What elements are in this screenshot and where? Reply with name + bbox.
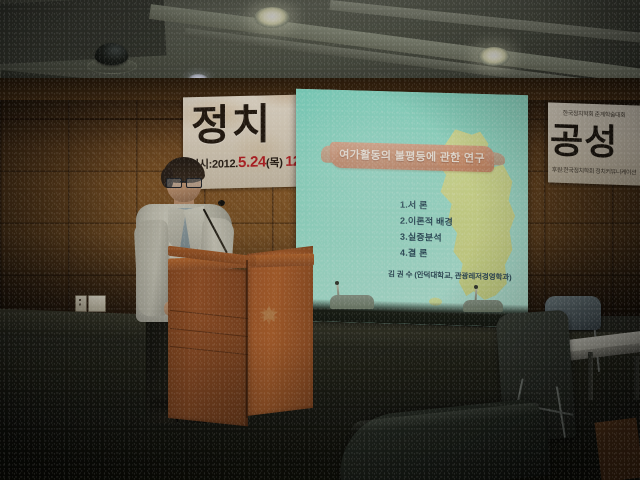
stage-chair-left — [330, 295, 374, 309]
table-leg — [588, 352, 593, 400]
banner-right: 한국정치학회 춘계학술대회 공성 후원:한국정치학회 정치커뮤니케이션 — [548, 102, 640, 185]
podium-side-panel — [247, 246, 313, 416]
downlight-icon — [254, 7, 290, 28]
slide-grain — [296, 89, 528, 327]
glasses-lens-left — [166, 178, 182, 188]
wall-switch-plate — [88, 295, 106, 312]
outlet-socket-holes — [77, 298, 83, 307]
date-day: (목) — [266, 157, 283, 169]
podium-front-panel — [168, 262, 248, 426]
banner-right-top-line: 한국정치학회 춘계학술대회 — [550, 107, 638, 119]
security-camera-icon — [95, 43, 128, 65]
downlight-icon — [478, 47, 510, 66]
table-mic-head-icon — [474, 285, 478, 289]
glasses-icon — [166, 178, 202, 186]
podium-corner-edge — [246, 260, 248, 418]
banner-left-title: 정치 — [191, 101, 272, 149]
glasses-lens-right — [186, 178, 202, 188]
banner-right-sub-line: 후원:한국정치학회 정치커뮤니케이션 — [550, 164, 638, 176]
stage-chair-right — [463, 300, 503, 312]
star-emblem-icon — [258, 304, 280, 326]
podium — [168, 246, 313, 418]
conference-room-photo: 정치 일시:2012.5.24(목) 12:50 한국정치학회 춘계학술대회 공… — [0, 0, 640, 480]
ceiling-left-panel — [0, 0, 166, 65]
microphone-head-icon — [218, 200, 225, 206]
table-leg — [634, 356, 639, 400]
projection-screen: 여가활동의 불평등에 관한 연구 1.서 론 2.이론적 배경 3.실증분석 4… — [296, 89, 528, 327]
table-mic-head-icon — [335, 281, 339, 285]
banner-right-title: 공성 — [550, 120, 618, 162]
wood-panel-foreground — [595, 418, 640, 480]
